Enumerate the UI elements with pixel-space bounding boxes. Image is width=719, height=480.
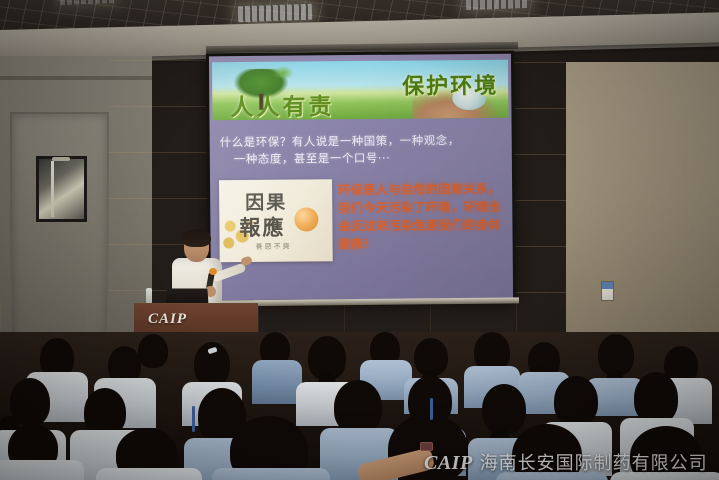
- slide-question-line-1: 什么是环保？有人说是一种国策，一种观念，: [220, 133, 460, 149]
- presentation-slide: 保护环境 人人有责 什么是环保？有人说是一种国策，一种观念， 一种态度，甚至是一…: [209, 54, 513, 301]
- ceiling-light-panel: [238, 4, 313, 23]
- projection-screen: 保护环境 人人有责 什么是环保？有人说是一种国策，一种观念， 一种态度，甚至是一…: [206, 51, 516, 304]
- door-handle[interactable]: [52, 157, 70, 161]
- microphone-head: [209, 268, 217, 275]
- slide-question-text: 什么是环保？有人说是一种国策，一种观念， 一种态度，甚至是一个口号···: [220, 132, 502, 168]
- slide-banner-image: 保护环境 人人有责: [212, 60, 508, 121]
- inset-caption: 善惡不爽: [256, 242, 292, 252]
- water-bottle: [146, 288, 152, 303]
- audience-member: [496, 424, 606, 480]
- audience-member: [128, 334, 182, 394]
- podium-brand-logo: CAIP: [148, 311, 187, 328]
- audience-member: [610, 426, 719, 480]
- slide-body-text: 环保是人与自然的因果关系，我们今天污染了环境，环境也会反过来污染危害我们的身体健…: [338, 180, 507, 253]
- audience-member: [366, 414, 486, 480]
- audience: [0, 332, 719, 480]
- wall-notice-sign: [601, 281, 614, 301]
- banner-headline: 保护环境: [402, 68, 498, 101]
- slide-question-line-2: 一种态度，甚至是一个口号···: [220, 149, 502, 168]
- door-window: [36, 156, 87, 222]
- audience-member: [212, 416, 328, 480]
- audience-member: [0, 424, 80, 480]
- banner-subline: 人人有责: [230, 87, 334, 120]
- presenter-hair: [182, 229, 211, 247]
- inset-title-bottom: 報應: [239, 212, 285, 242]
- presentation-photo: 保护环境 人人有责 什么是环保？有人说是一种国策，一种观念， 一种态度，甚至是一…: [0, 0, 719, 480]
- audience-member: [96, 428, 200, 480]
- sprout-graphic: [272, 66, 294, 78]
- orange-sphere-graphic: [294, 207, 318, 231]
